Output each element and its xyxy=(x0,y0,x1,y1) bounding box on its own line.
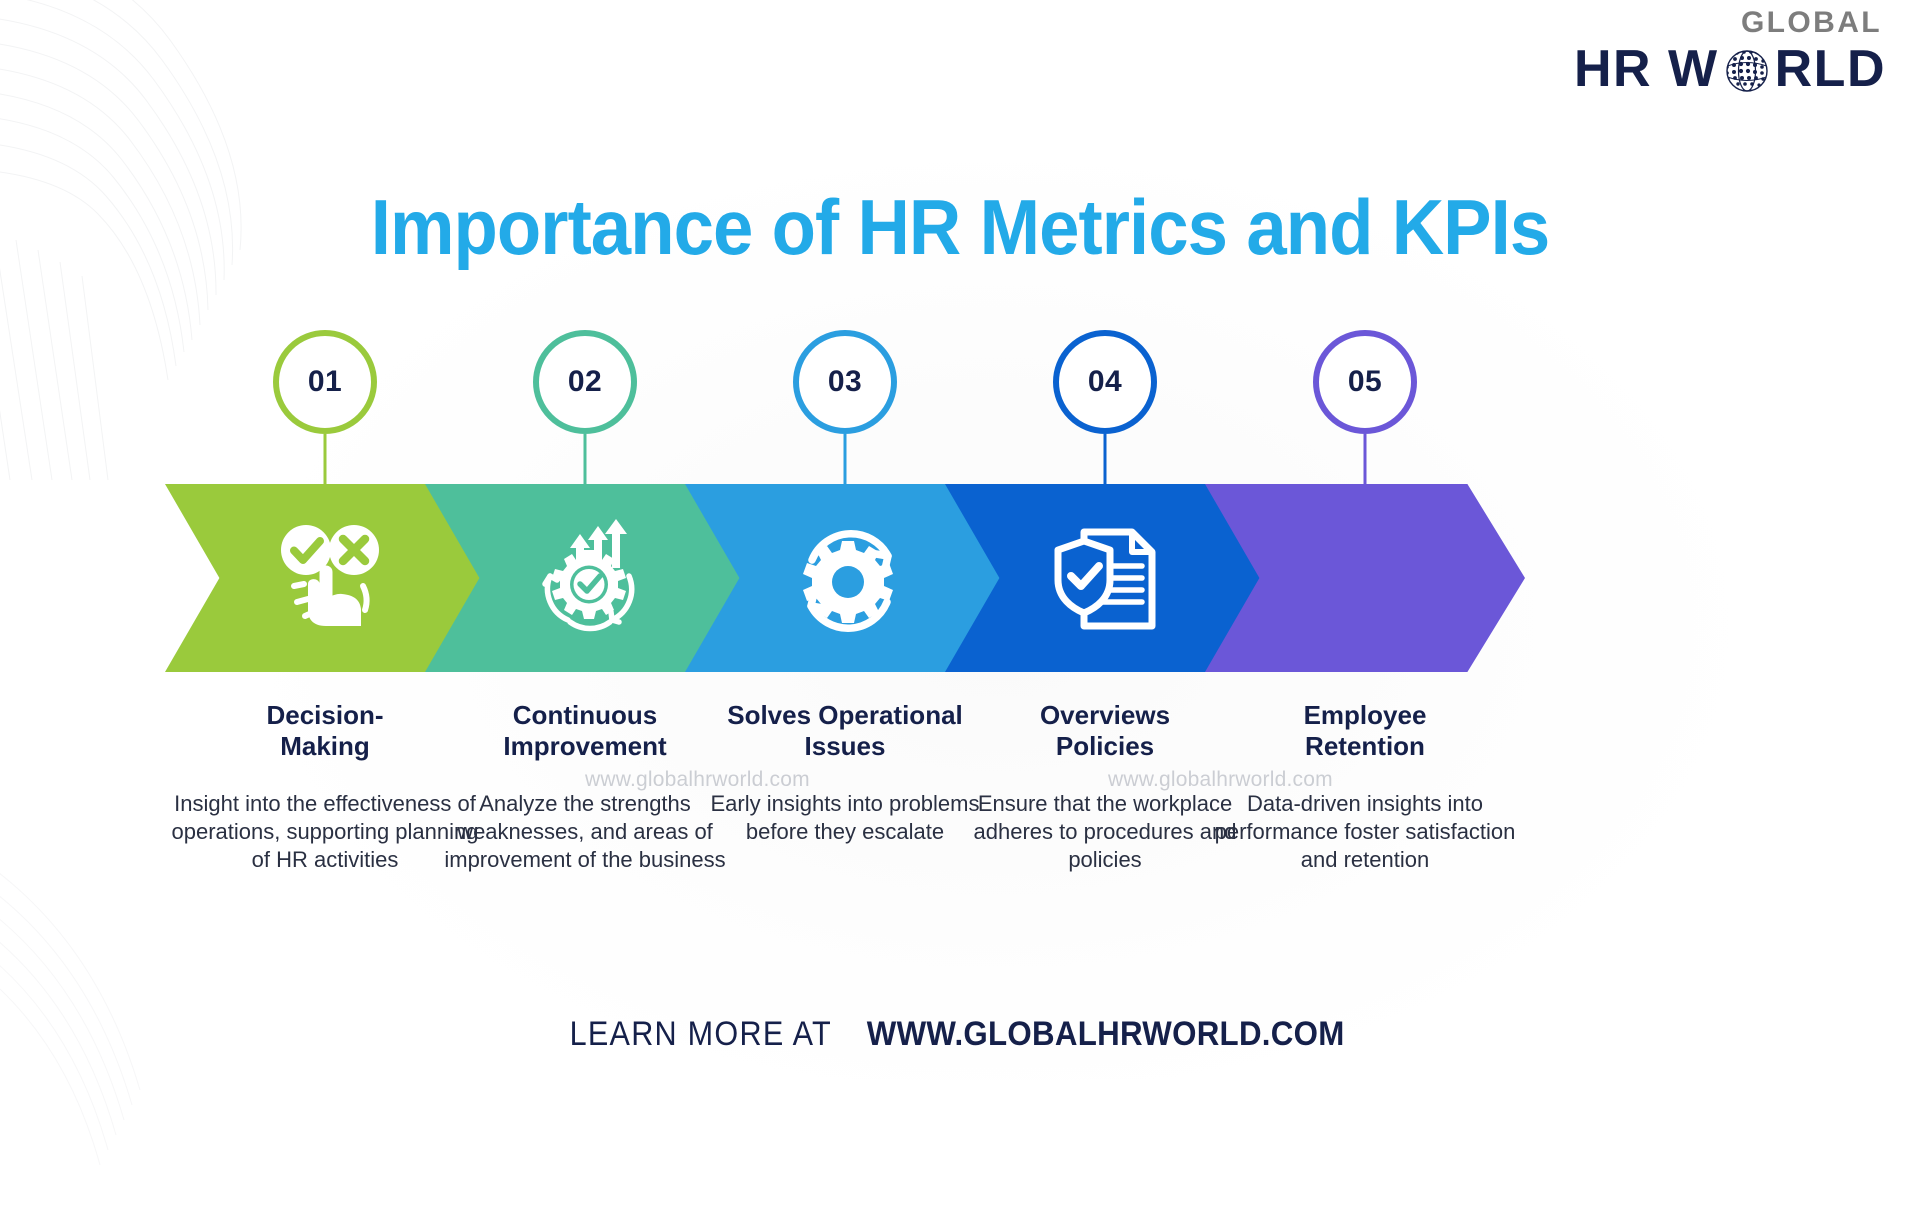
step-badge-05[interactable]: 05 xyxy=(1313,330,1417,434)
steps-row: 01 Decision- Making xyxy=(0,330,1920,950)
logo-hrw-suffix: RLD xyxy=(1775,43,1886,95)
step-number-04: 04 xyxy=(1088,365,1122,399)
step-title-line2-05: Retention xyxy=(1205,731,1525,762)
dotted-globe-icon xyxy=(1720,44,1774,98)
footer: LEARN MORE AT WWW.GLOBALHRWORLD.COM xyxy=(0,1015,1920,1054)
step-badge-03[interactable]: 03 xyxy=(793,330,897,434)
step-number-01: 01 xyxy=(308,365,342,399)
step-badge-04[interactable]: 04 xyxy=(1053,330,1157,434)
step-number-03: 03 xyxy=(828,365,862,399)
step-stem-03 xyxy=(844,434,847,486)
document-shield-check-icon xyxy=(1038,514,1172,642)
logo-global-text: GLOBAL xyxy=(1574,8,1882,38)
step-title-05: Employee Retention xyxy=(1205,700,1525,761)
watermark-2: www.globalhrworld.com xyxy=(1108,768,1333,792)
page-title: Importance of HR Metrics and KPIs xyxy=(67,182,1853,273)
step-arrow-01 xyxy=(165,484,485,672)
step-stem-04 xyxy=(1104,434,1107,486)
watermark-1: www.globalhrworld.com xyxy=(585,768,810,792)
click-approve-reject-icon xyxy=(258,514,392,642)
gear-refresh-cycle-icon xyxy=(778,514,912,642)
step-badge-01[interactable]: 01 xyxy=(273,330,377,434)
logo-hrw-prefix: HR W xyxy=(1574,43,1719,95)
step-stem-02 xyxy=(584,434,587,486)
step-number-05: 05 xyxy=(1348,365,1382,399)
brand-logo: GLOBAL HR W xyxy=(1574,8,1886,96)
logo-hrworld-text: HR W xyxy=(1574,42,1886,96)
step-stem-01 xyxy=(324,434,327,486)
footer-lead-text: LEARN MORE AT xyxy=(569,1015,831,1054)
step-badge-02[interactable]: 02 xyxy=(533,330,637,434)
gear-growth-arrows-icon xyxy=(518,514,652,642)
step-stem-05 xyxy=(1364,434,1367,486)
step-title-line1-05: Employee xyxy=(1205,700,1525,731)
footer-website-text[interactable]: WWW.GLOBALHRWORLD.COM xyxy=(867,1015,1345,1054)
step-number-02: 02 xyxy=(568,365,602,399)
step-desc-05: Data-driven insights into performance fo… xyxy=(1205,790,1525,874)
